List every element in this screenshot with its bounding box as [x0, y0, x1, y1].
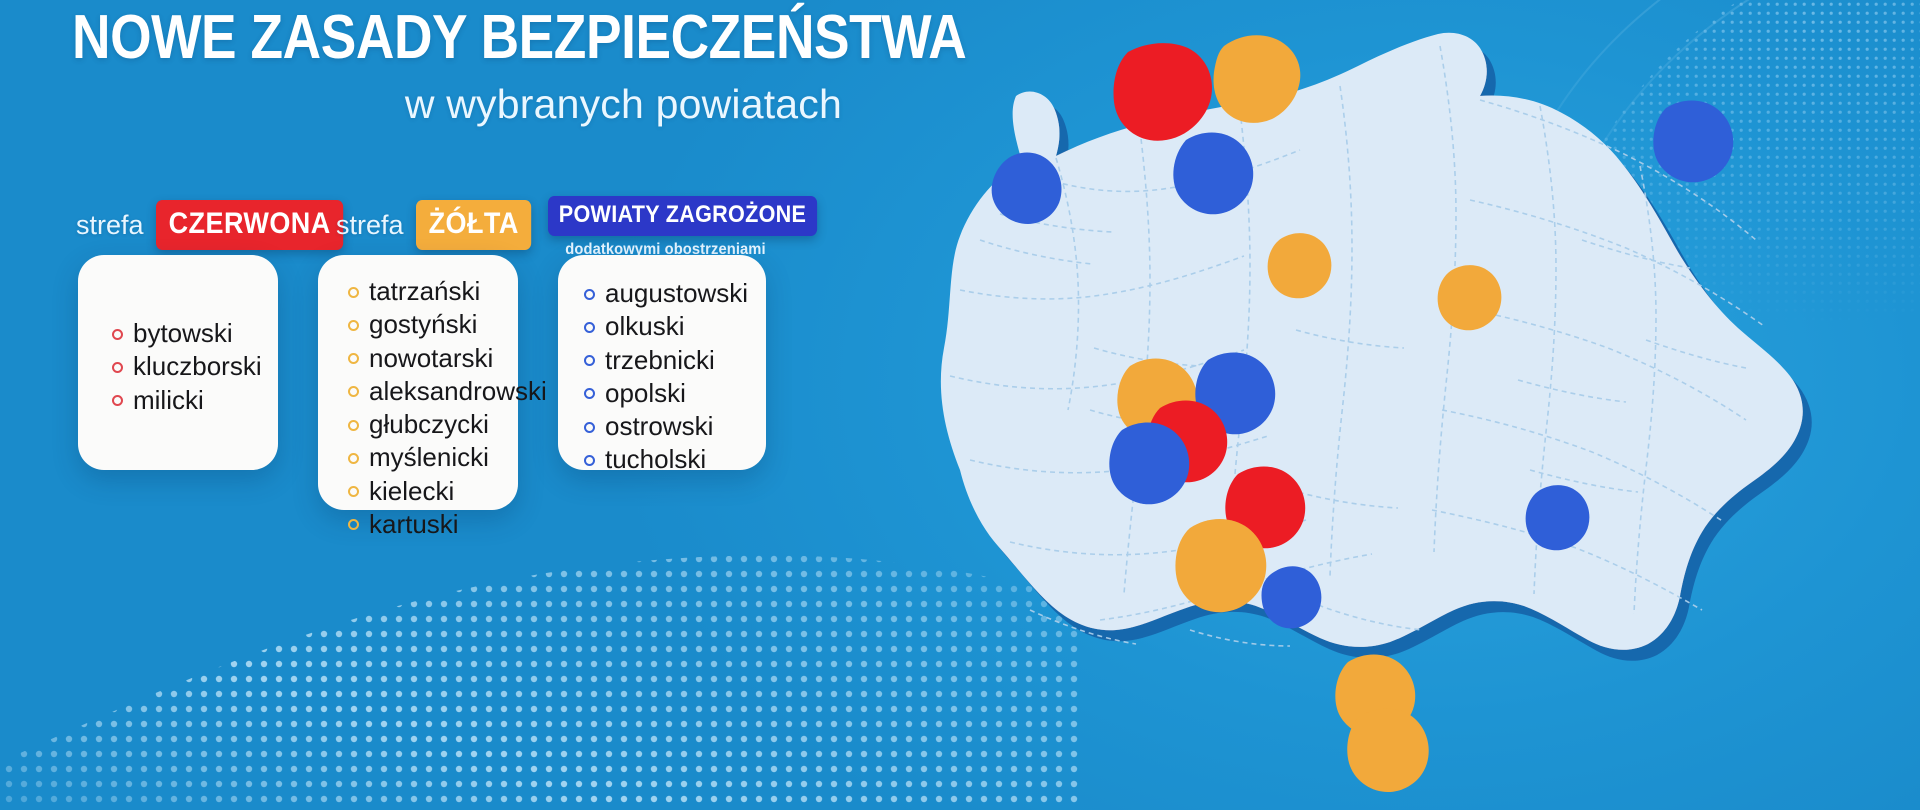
- bullet-dot-icon: [112, 362, 123, 373]
- list-item: bytowski: [112, 317, 278, 350]
- badge-yellow-zone: ŻÓŁTA: [416, 200, 531, 250]
- left-content-panel: NOWE ZASADY BEZPIECZEŃSTWA w wybranych p…: [0, 0, 900, 810]
- list-item: głubczycki: [348, 408, 518, 441]
- list-item: gostyński: [348, 308, 518, 341]
- list-item: opolski: [584, 377, 766, 410]
- county-name: olkuski: [605, 310, 684, 343]
- list-item: trzebnicki: [584, 344, 766, 377]
- list-item: olkuski: [584, 310, 766, 343]
- list-item: tucholski: [584, 443, 766, 476]
- poland-map: [840, 0, 1920, 810]
- list-item: myślenicki: [348, 441, 518, 474]
- map-county-tucholski: [1173, 133, 1253, 215]
- county-name: kartuski: [369, 508, 459, 541]
- legend-yellow-prefix: strefa: [336, 210, 404, 241]
- bullet-dot-icon: [348, 453, 359, 464]
- title-block: NOWE ZASADY BEZPIECZEŃSTWA w wybranych p…: [72, 6, 862, 128]
- bullet-dot-icon: [584, 355, 595, 366]
- list-yellow-counties: tatrzański gostyński nowotarski aleksand…: [318, 255, 518, 541]
- list-item: ostrowski: [584, 410, 766, 443]
- map-county-opolski: [1262, 566, 1322, 628]
- list-blue-counties: augustowski olkuski trzebnicki opolski o…: [558, 255, 766, 477]
- bullet-dot-icon: [348, 519, 359, 530]
- county-name: augustowski: [605, 277, 748, 310]
- bullet-dot-icon: [348, 420, 359, 431]
- county-name: myślenicki: [369, 441, 489, 474]
- map-county-glubczycki: [1175, 519, 1266, 612]
- infographic-canvas: NOWE ZASADY BEZPIECZEŃSTWA w wybranych p…: [0, 0, 1920, 810]
- legend-blue-zone: POWIATY ZAGROŻONE dodatkowymi obostrzeni…: [548, 196, 783, 259]
- badge-blue-zone: POWIATY ZAGROŻONE: [548, 196, 817, 236]
- page-title: NOWE ZASADY BEZPIECZEŃSTWA: [72, 6, 751, 69]
- county-name: trzebnicki: [605, 344, 715, 377]
- map-county-nowotarski: [1347, 709, 1428, 792]
- list-red-counties: bytowski kluczborski milicki: [78, 255, 278, 417]
- bullet-dot-icon: [584, 422, 595, 433]
- bullet-dot-icon: [112, 329, 123, 340]
- map-county-augustowski: [1653, 101, 1733, 183]
- county-name: opolski: [605, 377, 686, 410]
- badge-red-zone: CZERWONA: [156, 200, 343, 250]
- county-name: tucholski: [605, 443, 706, 476]
- county-name: nowotarski: [369, 342, 493, 375]
- list-item: augustowski: [584, 277, 766, 310]
- legend-red-prefix: strefa: [76, 210, 144, 241]
- bullet-dot-icon: [348, 386, 359, 397]
- list-item: kluczborski: [112, 350, 278, 383]
- map-county-trzebnicki: [1109, 423, 1189, 505]
- county-name: aleksandrowski: [369, 375, 547, 408]
- bullet-dot-icon: [584, 455, 595, 466]
- county-name: kluczborski: [133, 350, 262, 383]
- bullet-dot-icon: [348, 353, 359, 364]
- bullet-dot-icon: [112, 395, 123, 406]
- legend-yellow-zone: strefa ŻÓŁTA: [336, 200, 544, 250]
- county-name: gostyński: [369, 308, 477, 341]
- list-item: nowotarski: [348, 342, 518, 375]
- bullet-dot-icon: [584, 388, 595, 399]
- bullet-dot-icon: [584, 289, 595, 300]
- list-item: tatrzański: [348, 275, 518, 308]
- county-name: bytowski: [133, 317, 233, 350]
- card-yellow-zone: tatrzański gostyński nowotarski aleksand…: [318, 255, 518, 510]
- card-blue-zone: augustowski olkuski trzebnicki opolski o…: [558, 255, 766, 470]
- card-red-zone: bytowski kluczborski milicki: [78, 255, 278, 470]
- list-item: kielecki: [348, 475, 518, 508]
- county-name: kielecki: [369, 475, 454, 508]
- county-name: milicki: [133, 384, 204, 417]
- bullet-dot-icon: [348, 287, 359, 298]
- list-item: kartuski: [348, 508, 518, 541]
- county-name: ostrowski: [605, 410, 713, 443]
- list-item: aleksandrowski: [348, 375, 518, 408]
- legend-red-zone: strefa CZERWONA: [76, 200, 364, 250]
- list-item: milicki: [112, 384, 278, 417]
- county-name: głubczycki: [369, 408, 489, 441]
- bullet-dot-icon: [584, 322, 595, 333]
- bullet-dot-icon: [348, 486, 359, 497]
- bullet-dot-icon: [348, 320, 359, 331]
- page-subtitle: w wybranych powiatach: [72, 81, 842, 128]
- map-county-nw-blue: [992, 153, 1062, 225]
- county-name: tatrzański: [369, 275, 480, 308]
